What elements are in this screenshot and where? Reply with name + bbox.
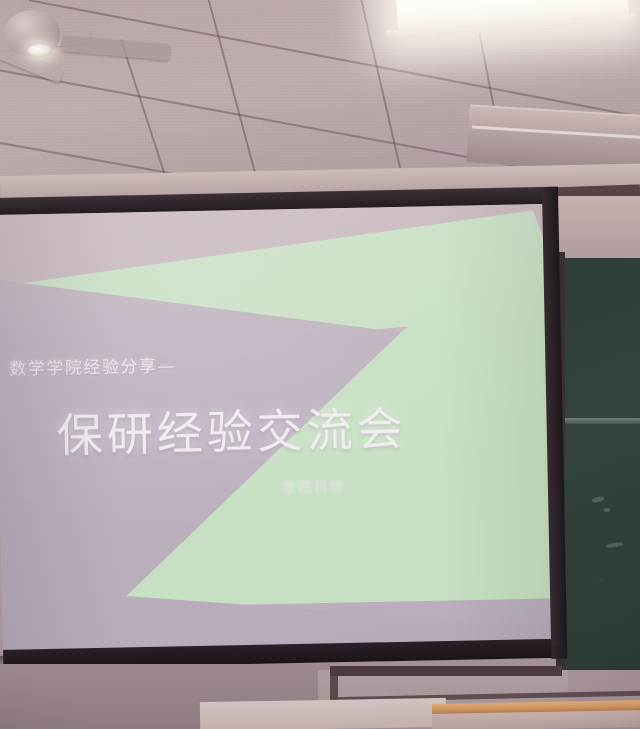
projected-slide: 数学学院经验分享— 保研经验交流会 数院科协 [0,204,555,651]
classroom-photo: 数学学院经验分享— 保研经验交流会 数院科协 [0,0,640,729]
ledge-front-panel [200,698,446,729]
slide-subtitle-text: 数院科协 [282,476,346,497]
chalkboard [564,258,640,670]
slide-kicker-text: 数学学院经验分享— [9,351,176,379]
chalk-smudge [604,508,610,512]
chalk-smudge [590,578,604,584]
chalkboard-seam [564,418,640,424]
fan-light-bulb-icon [28,44,52,57]
slide-title-text: 保研经验交流会 [56,393,407,466]
projection-screen: 数学学院经验分享— 保研经验交流会 数院科协 [0,187,565,676]
chalk-ledge-face [432,710,640,729]
wall-recess-top [330,666,562,676]
